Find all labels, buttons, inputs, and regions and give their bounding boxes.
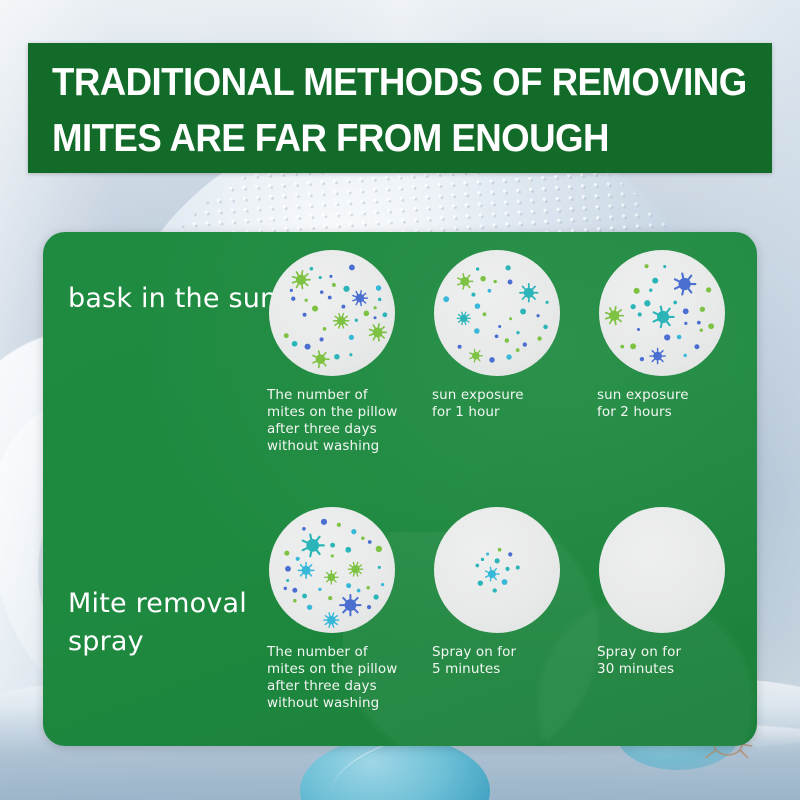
sample-cell-sun-baseline: The number of mites on the pillow after … bbox=[265, 250, 429, 455]
title-line-1: TRADITIONAL METHODS OF REMOVING bbox=[52, 55, 710, 111]
caption-spray-baseline: The number of mites on the pillow after … bbox=[267, 644, 427, 712]
infographic-canvas: TRADITIONAL METHODS OF REMOVING MITES AR… bbox=[0, 0, 800, 800]
sample-cell-spray-30min: Spray on for 30 minutes bbox=[595, 507, 757, 678]
sample-cell-sun-2h: sun exposure for 2 hours bbox=[595, 250, 757, 421]
petri-dish-sun-2h bbox=[599, 250, 725, 376]
comparison-panel: bask in the sun The number of mites on t… bbox=[43, 232, 757, 746]
comparison-row-spray: Mite removal spray The number of mites o… bbox=[43, 489, 757, 746]
row-label-sun: bask in the sun bbox=[68, 280, 283, 318]
sample-cell-sun-1h: sun exposure for 1 hour bbox=[430, 250, 594, 421]
sample-cell-spray-baseline: The number of mites on the pillow after … bbox=[265, 507, 429, 712]
caption-sun-baseline: The number of mites on the pillow after … bbox=[267, 387, 427, 455]
petri-dish-spray-30min bbox=[599, 507, 725, 633]
caption-spray-5min: Spray on for 5 minutes bbox=[432, 644, 582, 678]
caption-spray-30min: Spray on for 30 minutes bbox=[597, 644, 747, 678]
title-line-2: MITES ARE FAR FROM ENOUGH bbox=[52, 111, 710, 167]
petri-dish-sun-baseline bbox=[269, 250, 395, 376]
petri-dish-sun-1h bbox=[434, 250, 560, 376]
caption-sun-2h: sun exposure for 2 hours bbox=[597, 387, 747, 421]
mite-cluster-empty bbox=[599, 507, 725, 633]
petri-dish-spray-baseline bbox=[269, 507, 395, 633]
row-label-spray: Mite removal spray bbox=[68, 585, 283, 661]
mite-cluster-sparse bbox=[434, 507, 560, 633]
petri-dish-spray-5min bbox=[434, 507, 560, 633]
mite-cluster-dense bbox=[599, 250, 725, 376]
comparison-row-sun: bask in the sun The number of mites on t… bbox=[43, 232, 757, 489]
mite-cluster-dense bbox=[434, 250, 560, 376]
title-banner: TRADITIONAL METHODS OF REMOVING MITES AR… bbox=[28, 43, 772, 173]
mite-cluster-dense bbox=[269, 250, 395, 376]
mite-cluster-dense bbox=[269, 507, 395, 633]
sample-cell-spray-5min: Spray on for 5 minutes bbox=[430, 507, 594, 678]
caption-sun-1h: sun exposure for 1 hour bbox=[432, 387, 582, 421]
